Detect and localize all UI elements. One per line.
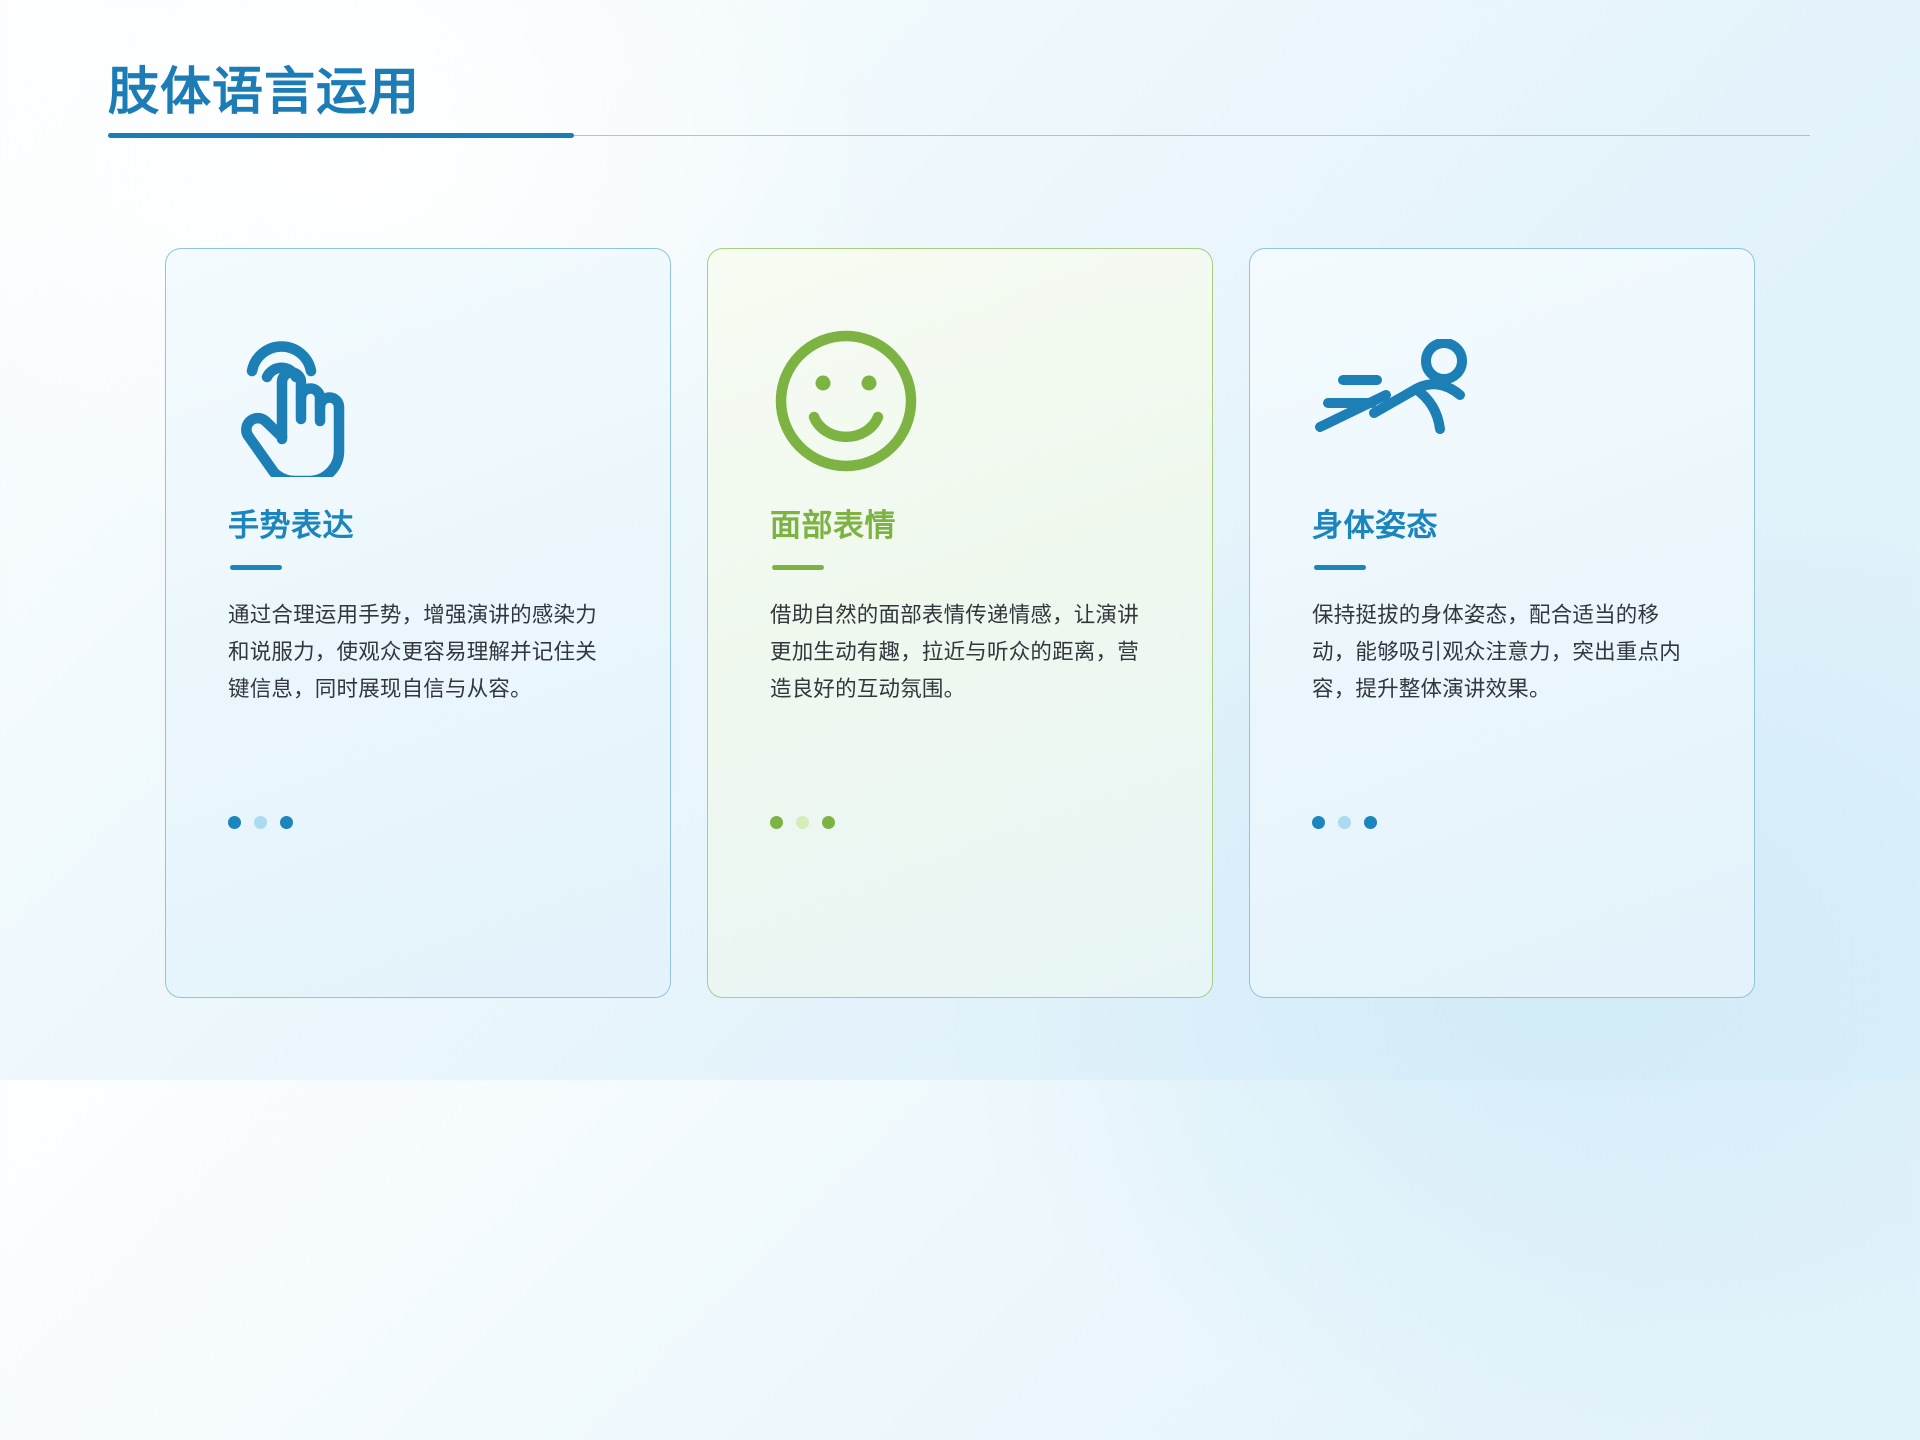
title-divider-accent-line <box>108 133 574 138</box>
card-dot-indicators <box>228 816 293 829</box>
card-accent-bar <box>230 565 282 570</box>
dot-2 <box>254 816 267 829</box>
card-dot-indicators <box>1312 816 1377 829</box>
dot-3 <box>280 816 293 829</box>
card-gesture[interactable]: 手势表达 通过合理运用手势，增强演讲的感染力和说服力，使观众更容易理解并记住关键… <box>165 248 671 998</box>
title-divider <box>108 133 1810 138</box>
dot-3 <box>1364 816 1377 829</box>
card-title: 身体姿态 <box>1312 507 1692 544</box>
dot-3 <box>822 816 835 829</box>
card-accent-bar <box>1314 565 1366 570</box>
dot-2 <box>796 816 809 829</box>
card-accent-bar <box>772 565 824 570</box>
pointing-hand-tap-icon <box>228 311 608 491</box>
slide-header: 肢体语言运用 <box>108 62 1828 138</box>
dot-1 <box>1312 816 1325 829</box>
dot-1 <box>228 816 241 829</box>
dot-1 <box>770 816 783 829</box>
card-facial-expression[interactable]: 面部表情 借助自然的面部表情传递情感，让演讲更加生动有趣，拉近与听众的距离，营造… <box>707 248 1213 998</box>
dot-2 <box>1338 816 1351 829</box>
card-dot-indicators <box>770 816 835 829</box>
card-title: 面部表情 <box>770 507 1150 544</box>
card-body-text: 保持挺拔的身体姿态，配合适当的移动，能够吸引观众注意力，突出重点内容，提升整体演… <box>1312 597 1692 708</box>
card-row: 手势表达 通过合理运用手势，增强演讲的感染力和说服力，使观众更容易理解并记住关键… <box>0 248 1920 998</box>
card-body-text: 借助自然的面部表情传递情感，让演讲更加生动有趣，拉近与听众的距离，营造良好的互动… <box>770 597 1150 708</box>
running-person-icon <box>1312 311 1692 491</box>
page-title: 肢体语言运用 <box>108 62 1828 121</box>
card-body-text: 通过合理运用手势，增强演讲的感染力和说服力，使观众更容易理解并记住关键信息，同时… <box>228 597 608 708</box>
card-body-posture[interactable]: 身体姿态 保持挺拔的身体姿态，配合适当的移动，能够吸引观众注意力，突出重点内容，… <box>1249 248 1755 998</box>
card-title: 手势表达 <box>228 507 608 544</box>
smiley-face-icon <box>770 311 1150 491</box>
